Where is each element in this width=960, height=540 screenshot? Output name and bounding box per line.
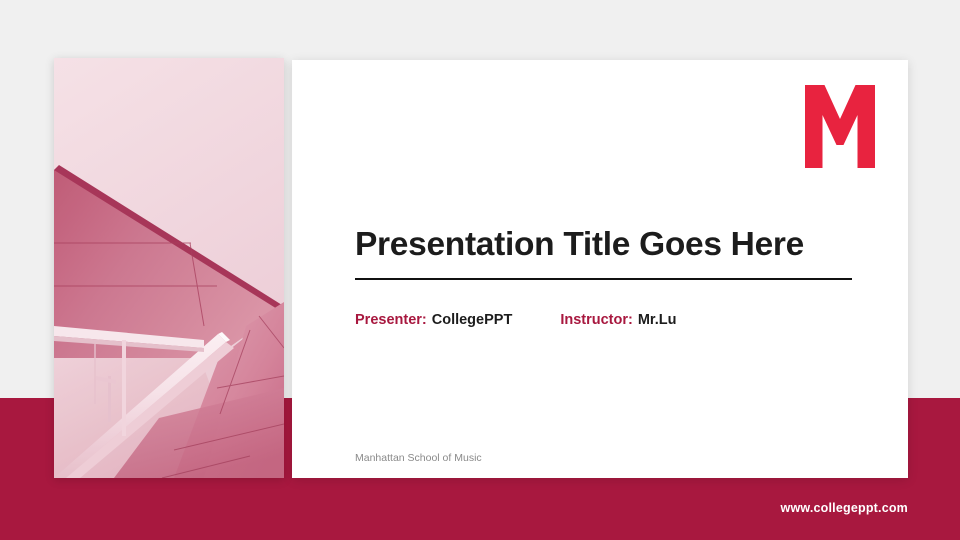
credit-instructor-label: Instructor:: [560, 312, 633, 328]
slide-canvas: www.collegeppt.com Presentation Title Go…: [0, 0, 960, 540]
title-divider: [355, 278, 852, 280]
cover-photo: [54, 58, 284, 478]
credit-instructor: Instructor:Mr.Lu: [560, 312, 676, 328]
site-url: www.collegeppt.com: [781, 501, 908, 515]
credit-presenter-label: Presenter:: [355, 312, 427, 328]
credit-presenter: Presenter:CollegePPT: [355, 312, 512, 328]
credit-instructor-value: Mr.Lu: [638, 312, 677, 328]
slide-card: Presentation Title Goes Here Presenter:C…: [292, 60, 908, 478]
slide-footer: Manhattan School of Music: [355, 452, 482, 464]
credits-row: Presenter:CollegePPT Instructor:Mr.Lu: [355, 312, 676, 328]
page-title: Presentation Title Goes Here: [355, 226, 855, 265]
letter-m-logo-icon: [805, 85, 875, 168]
title-block: Presentation Title Goes Here: [355, 226, 855, 280]
credit-presenter-value: CollegePPT: [432, 312, 513, 328]
